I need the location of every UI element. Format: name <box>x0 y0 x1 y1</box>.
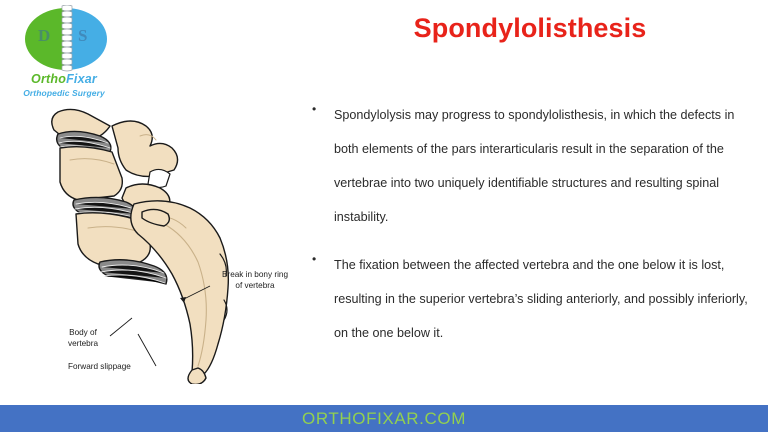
logo-wordmark-ortho: Ortho <box>31 72 66 86</box>
posterior-arch-upper <box>112 121 178 176</box>
spine-illustration: Break in bony ring of vertebra Body of v… <box>14 104 300 384</box>
page-title: Spondylolisthesis <box>300 13 760 44</box>
logo-letter-right: S <box>78 26 87 46</box>
logo-letter-left: D <box>38 26 50 46</box>
logo-mark-icon: D S <box>22 6 108 72</box>
list-item: • Spondylolysis may progress to spondylo… <box>312 98 760 234</box>
list-item: • The fixation between the affected vert… <box>312 248 760 350</box>
logo-wordmark-fixar: Fixar <box>66 72 97 86</box>
annotation-break-in-bony-ring: Break in bony ring of vertebra <box>207 270 303 291</box>
slide-canvas: D S OrthoFixar Orthopedic Su <box>0 0 768 432</box>
bullet-text: Spondylolysis may progress to spondyloli… <box>334 98 760 234</box>
bullet-list: • Spondylolysis may progress to spondylo… <box>312 98 760 364</box>
footer-website-text[interactable]: ORTHOFIXAR.COM <box>0 405 768 432</box>
bullet-marker-icon: • <box>312 98 334 115</box>
bullet-marker-icon: • <box>312 248 334 265</box>
annotation-body-of-vertebra: Body of vertebra <box>52 328 114 349</box>
brand-logo[interactable]: D S OrthoFixar Orthopedic Su <box>8 4 120 104</box>
annotation-forward-slippage: Forward slippage <box>68 362 164 373</box>
footer-banner: ORTHOFIXAR.COM <box>0 405 768 432</box>
logo-spine-icon <box>60 5 74 73</box>
logo-subtitle: Orthopedic Surgery <box>8 88 120 98</box>
vertebra-body-l4 <box>60 147 122 200</box>
logo-wordmark: OrthoFixar <box>8 72 120 86</box>
bullet-text: The fixation between the affected verteb… <box>334 248 760 350</box>
